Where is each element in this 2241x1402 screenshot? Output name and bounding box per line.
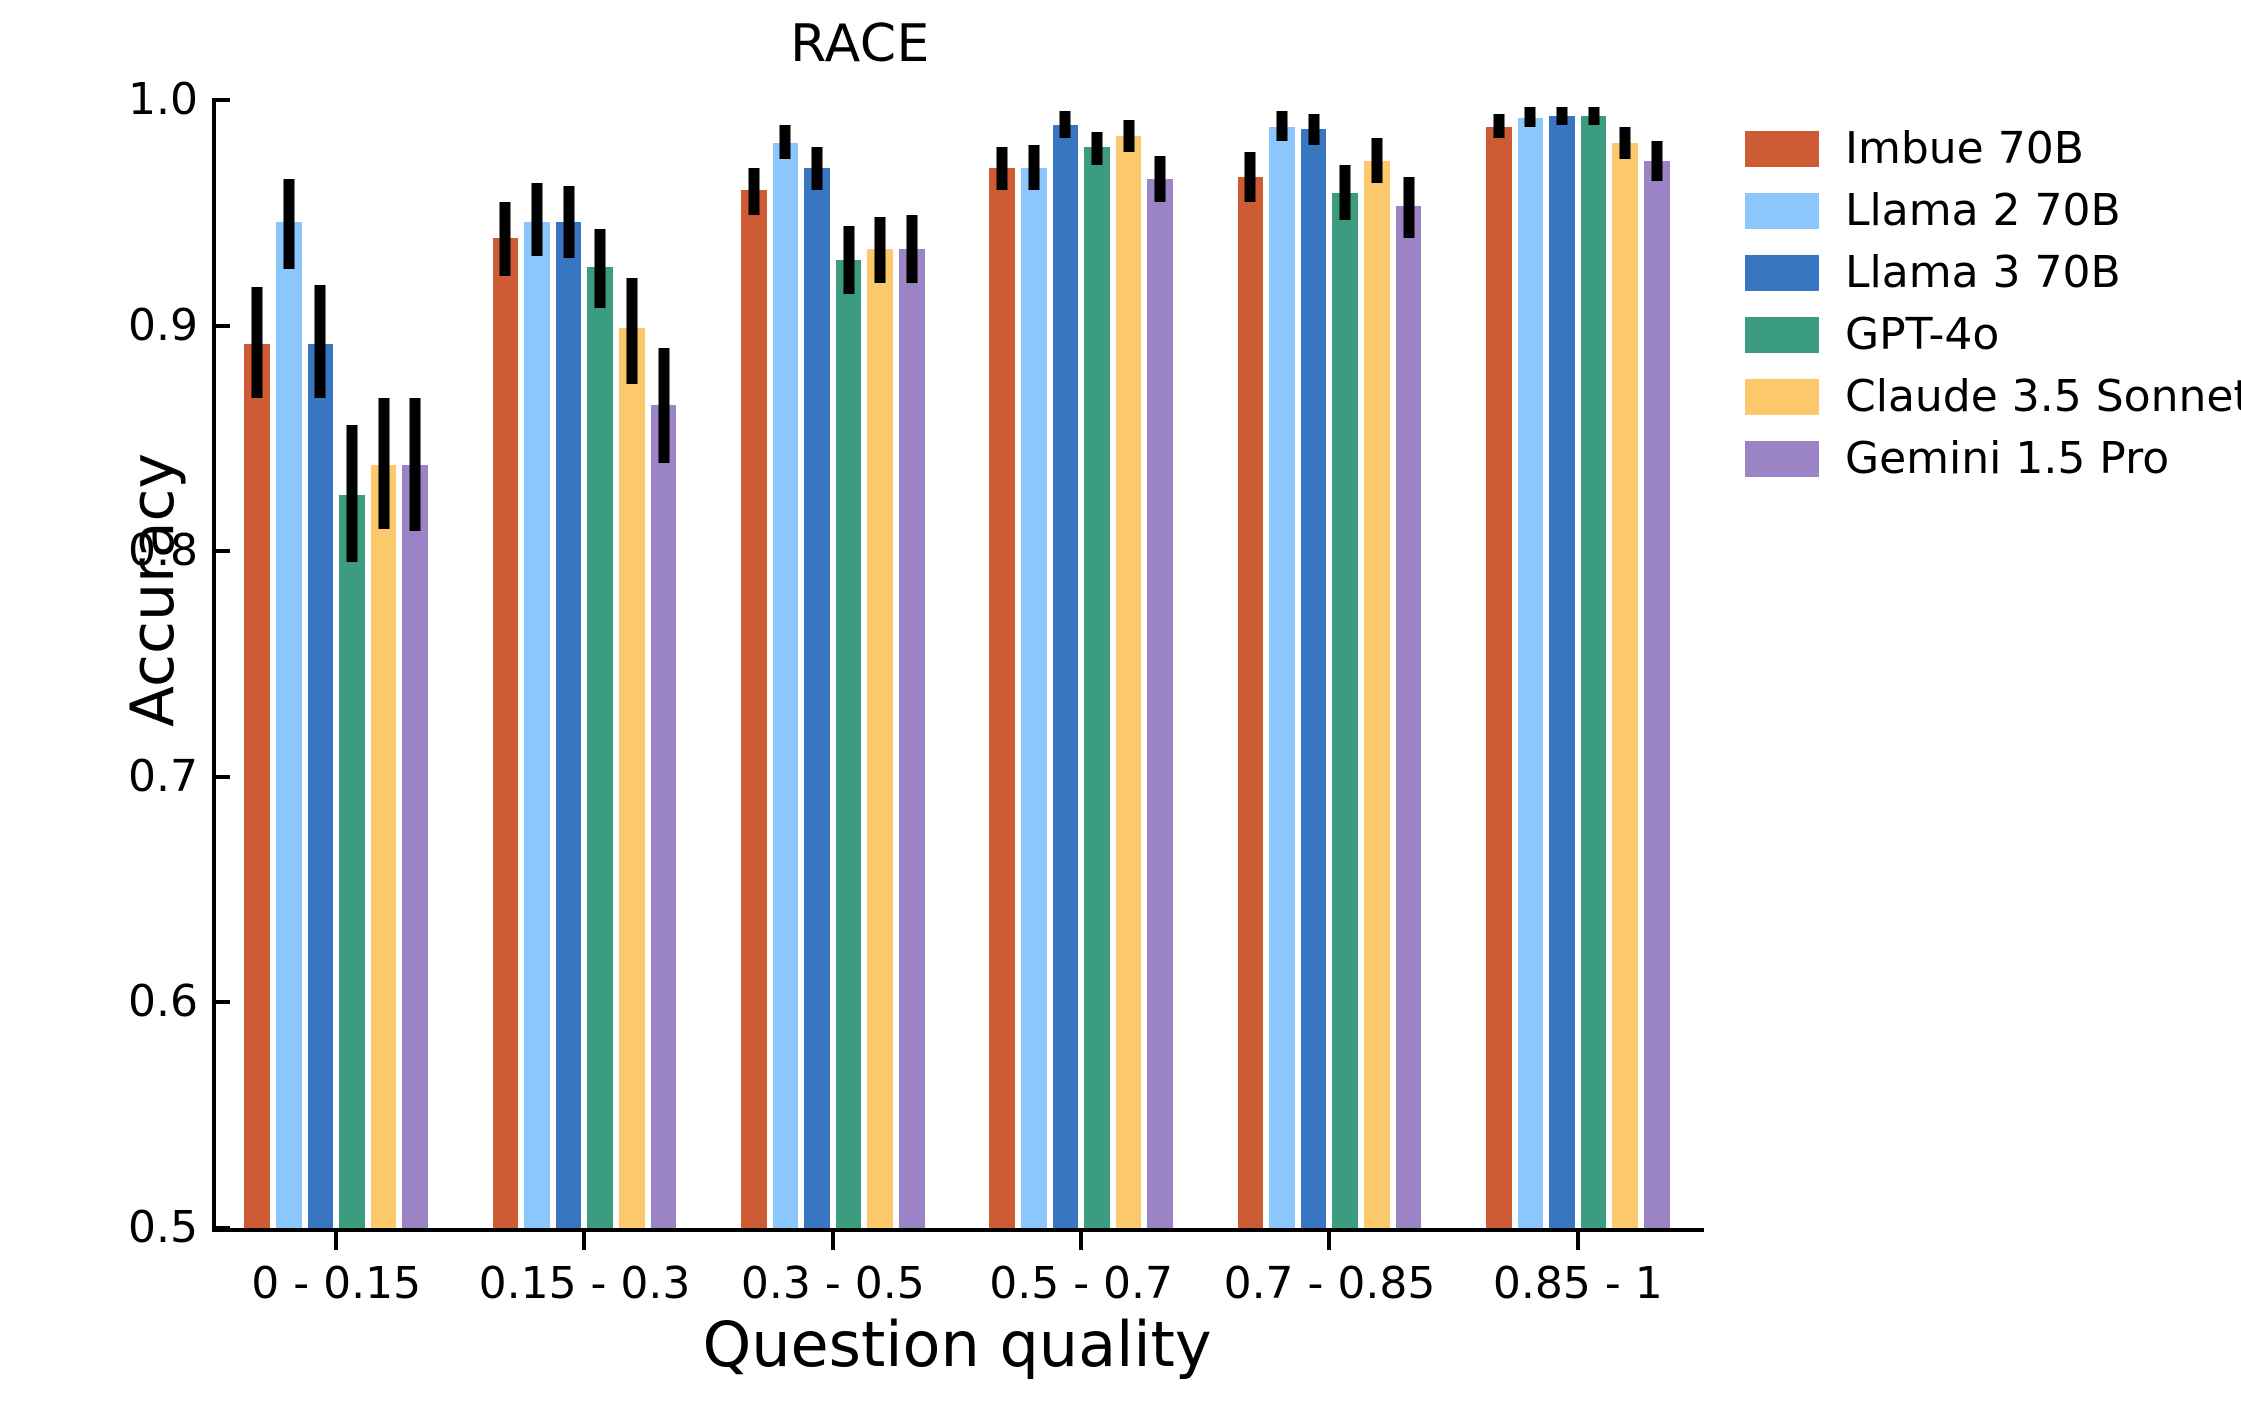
- error-bar: [1155, 156, 1166, 201]
- bar-slot: [1116, 100, 1142, 1228]
- bar-slot: [308, 100, 334, 1228]
- bar[interactable]: [587, 267, 613, 1228]
- bar[interactable]: [1396, 206, 1422, 1228]
- bar[interactable]: [1549, 116, 1575, 1228]
- error-bar: [812, 147, 823, 190]
- bar[interactable]: [524, 222, 550, 1228]
- error-bar: [780, 125, 791, 159]
- bar[interactable]: [1147, 179, 1173, 1228]
- legend-label: GPT-4o: [1845, 312, 1999, 358]
- legend-swatch: [1745, 317, 1819, 353]
- bar-slot: [804, 100, 830, 1228]
- error-bar: [252, 287, 263, 398]
- bar-slot: [1364, 100, 1390, 1228]
- error-bar: [1525, 107, 1536, 127]
- legend-item[interactable]: Llama 2 70B: [1745, 180, 2241, 242]
- error-bar: [1245, 152, 1256, 202]
- bar-slot: [556, 100, 582, 1228]
- bar-group-bars: [741, 100, 925, 1228]
- bar[interactable]: [1518, 118, 1544, 1228]
- error-bar: [1493, 114, 1504, 139]
- y-tick: 0.8: [128, 529, 212, 573]
- error-bar: [1588, 107, 1599, 125]
- bar-slot: [276, 100, 302, 1228]
- chart-title: RACE: [0, 14, 1720, 74]
- bar[interactable]: [1021, 168, 1047, 1228]
- bar[interactable]: [1364, 161, 1390, 1228]
- error-bar: [1308, 114, 1319, 146]
- legend-label: Imbue 70B: [1845, 126, 2084, 172]
- error-bar: [1277, 111, 1288, 140]
- bar[interactable]: [1332, 193, 1358, 1229]
- error-bar: [315, 285, 326, 398]
- error-bar: [1556, 107, 1567, 125]
- x-tick-mark: [1079, 1232, 1083, 1250]
- legend-item[interactable]: Llama 3 70B: [1745, 242, 2241, 304]
- bar[interactable]: [899, 249, 925, 1228]
- error-bar: [1340, 165, 1351, 219]
- bar-group-bars: [1238, 100, 1422, 1228]
- error-bar: [875, 217, 886, 282]
- bar-slot: [867, 100, 893, 1228]
- x-axis-title: Question quality: [212, 1310, 1702, 1380]
- bar-slot: [1053, 100, 1079, 1228]
- x-tick-label: 0 - 0.15: [251, 1260, 421, 1308]
- bar[interactable]: [1238, 177, 1264, 1228]
- bar[interactable]: [836, 260, 862, 1228]
- bar[interactable]: [1053, 125, 1079, 1228]
- error-bar: [1620, 127, 1631, 159]
- x-tick-label: 0.85 - 1: [1493, 1260, 1663, 1308]
- bar[interactable]: [867, 249, 893, 1228]
- legend-item[interactable]: Gemini 1.5 Pro: [1745, 428, 2241, 490]
- x-tick-label: 0.3 - 0.5: [741, 1260, 925, 1308]
- y-tick: 0.7: [128, 755, 212, 799]
- bar-slot: [1581, 100, 1607, 1228]
- y-tick-label: 0.5: [128, 1206, 212, 1250]
- legend-swatch: [1745, 441, 1819, 477]
- bar-slot: [244, 100, 270, 1228]
- x-tick-label: 0.5 - 0.7: [989, 1260, 1173, 1308]
- bar[interactable]: [1644, 161, 1670, 1228]
- chart-figure: RACE Accuracy 0.50.60.70.80.91.0 0 - 0.1…: [0, 0, 2241, 1402]
- error-bar: [595, 229, 606, 308]
- error-bar: [532, 183, 543, 255]
- bar[interactable]: [1581, 116, 1607, 1228]
- bar-group: [1454, 100, 1702, 1228]
- bar-slot: [1147, 100, 1173, 1228]
- legend-label: Gemini 1.5 Pro: [1845, 436, 2169, 482]
- x-tick-mark: [334, 1232, 338, 1250]
- bar[interactable]: [804, 168, 830, 1228]
- x-tick-label: 0.7 - 0.85: [1224, 1260, 1436, 1308]
- error-bar: [1060, 111, 1071, 138]
- bar-slot: [371, 100, 397, 1228]
- y-tick-label: 0.9: [128, 304, 212, 348]
- error-bar: [658, 348, 669, 463]
- bar[interactable]: [619, 328, 645, 1228]
- bar[interactable]: [339, 495, 365, 1228]
- y-tick: 0.5: [128, 1206, 212, 1250]
- bar-slot: [989, 100, 1015, 1228]
- bar-slot: [1612, 100, 1638, 1228]
- bar[interactable]: [556, 222, 582, 1228]
- legend-label: Llama 3 70B: [1845, 250, 2121, 296]
- legend-swatch: [1745, 379, 1819, 415]
- y-axis-title-container: Accuracy: [18, 380, 98, 800]
- error-bar: [997, 147, 1008, 190]
- error-bar: [563, 186, 574, 258]
- y-tick-label: 0.8: [128, 529, 212, 573]
- bar[interactable]: [1301, 129, 1327, 1228]
- bar-slot: [1301, 100, 1327, 1228]
- error-bar: [1403, 177, 1414, 238]
- legend-item[interactable]: Claude 3.5 Sonnet: [1745, 366, 2241, 428]
- bar-group: [709, 100, 957, 1228]
- legend: Imbue 70BLlama 2 70BLlama 3 70BGPT-4oCla…: [1745, 118, 2241, 490]
- bar[interactable]: [402, 465, 428, 1228]
- error-bar: [378, 398, 389, 529]
- bar-group: [212, 100, 460, 1228]
- bar-group: [460, 100, 708, 1228]
- y-tick: 0.6: [128, 980, 212, 1024]
- legend-swatch: [1745, 193, 1819, 229]
- x-tick-mark: [1576, 1232, 1580, 1250]
- bar-slot: [1021, 100, 1047, 1228]
- bar-group: [957, 100, 1205, 1228]
- x-tick-mark: [1327, 1232, 1331, 1250]
- bar-slot: [402, 100, 428, 1228]
- error-bar: [843, 226, 854, 294]
- bar[interactable]: [371, 465, 397, 1228]
- bar[interactable]: [651, 405, 677, 1228]
- plot-area: 0.50.60.70.80.91.0: [212, 100, 1702, 1228]
- bar-group-bars: [1486, 100, 1670, 1228]
- bar-slot: [1084, 100, 1110, 1228]
- error-bar: [1028, 145, 1039, 190]
- bar-group-bars: [989, 100, 1173, 1228]
- bar-slot: [587, 100, 613, 1228]
- bar-slot: [339, 100, 365, 1228]
- bar-group: [1205, 100, 1453, 1228]
- bar-slot: [651, 100, 677, 1228]
- bar-slot: [899, 100, 925, 1228]
- error-bar: [748, 168, 759, 215]
- legend-label: Claude 3.5 Sonnet: [1845, 374, 2241, 420]
- legend-label: Llama 2 70B: [1845, 188, 2121, 234]
- bar[interactable]: [493, 238, 519, 1228]
- bar[interactable]: [1486, 127, 1512, 1228]
- legend-item[interactable]: Imbue 70B: [1745, 118, 2241, 180]
- error-bar: [346, 425, 357, 563]
- bar-slot: [619, 100, 645, 1228]
- bar-group-bars: [493, 100, 677, 1228]
- bar[interactable]: [1084, 147, 1110, 1228]
- legend-swatch: [1745, 255, 1819, 291]
- bar-group-bars: [244, 100, 428, 1228]
- bar[interactable]: [1612, 143, 1638, 1228]
- x-tick-label: 0.15 - 0.3: [479, 1260, 691, 1308]
- bar[interactable]: [741, 190, 767, 1228]
- bar-slot: [1396, 100, 1422, 1228]
- x-tick-mark: [831, 1232, 835, 1250]
- bar[interactable]: [773, 143, 799, 1228]
- error-bar: [1123, 120, 1134, 152]
- bar-slot: [1644, 100, 1670, 1228]
- x-tick-mark: [582, 1232, 586, 1250]
- bar-slot: [524, 100, 550, 1228]
- bar-slot: [1269, 100, 1295, 1228]
- error-bar: [906, 215, 917, 283]
- error-bar: [1651, 141, 1662, 182]
- bar-slot: [836, 100, 862, 1228]
- bar[interactable]: [276, 222, 302, 1228]
- bar-slot: [1486, 100, 1512, 1228]
- bar-groups: [212, 100, 1702, 1228]
- legend-item[interactable]: GPT-4o: [1745, 304, 2241, 366]
- error-bar: [500, 202, 511, 276]
- legend-swatch: [1745, 131, 1819, 167]
- bar-slot: [1518, 100, 1544, 1228]
- y-tick-label: 0.6: [128, 980, 212, 1024]
- y-axis-title: Accuracy: [123, 453, 183, 727]
- y-tick: 0.9: [128, 304, 212, 348]
- bar-slot: [1238, 100, 1264, 1228]
- bar-slot: [493, 100, 519, 1228]
- error-bar: [1371, 138, 1382, 183]
- error-bar: [626, 278, 637, 384]
- bar[interactable]: [989, 168, 1015, 1228]
- error-bar: [410, 398, 421, 531]
- error-bar: [1091, 132, 1102, 166]
- bar[interactable]: [308, 344, 334, 1228]
- bar-slot: [1549, 100, 1575, 1228]
- error-bar: [283, 179, 294, 269]
- bar[interactable]: [1269, 127, 1295, 1228]
- y-tick: 1.0: [128, 78, 212, 122]
- bar-slot: [741, 100, 767, 1228]
- bar[interactable]: [1116, 136, 1142, 1228]
- bar-slot: [1332, 100, 1358, 1228]
- y-tick-label: 0.7: [128, 755, 212, 799]
- bar-slot: [773, 100, 799, 1228]
- bar[interactable]: [244, 344, 270, 1228]
- y-tick-label: 1.0: [128, 78, 212, 122]
